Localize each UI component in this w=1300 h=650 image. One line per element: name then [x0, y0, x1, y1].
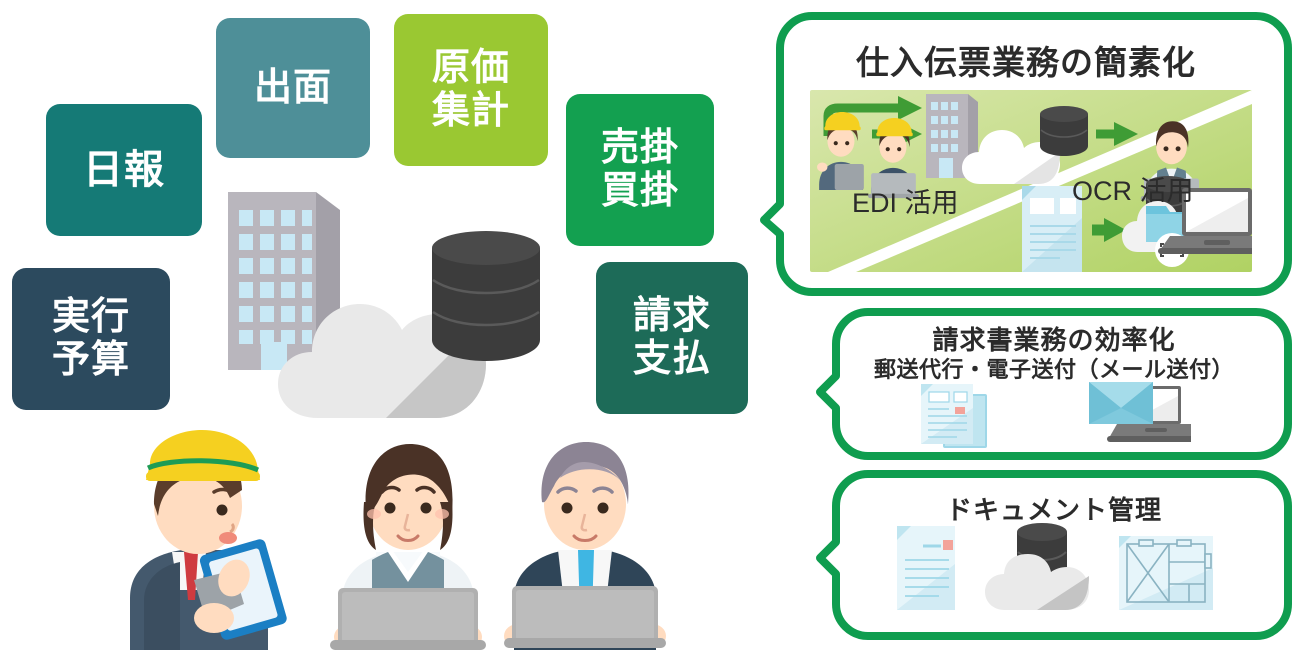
bubble-title: 仕入伝票業務の簡素化 [760, 36, 1292, 84]
person-site-worker [110, 428, 300, 650]
person-office-woman [328, 432, 488, 650]
tile-line: 支払 [633, 338, 711, 381]
invoice-icons [816, 380, 1292, 452]
module-tile-nippo[interactable]: 日報 [46, 104, 202, 236]
edi-zone-label: EDI 活用 [852, 188, 959, 218]
module-tile-demen[interactable]: 出面 [216, 18, 370, 158]
floorplan-icon [1117, 534, 1215, 612]
people-group [110, 418, 670, 650]
edi-ocr-panel: OCR EDI 活用 OCR 活用 [810, 90, 1252, 272]
ocr-zone-label: OCR 活用 [1072, 176, 1194, 206]
tile-line: 実行 [52, 296, 130, 339]
tile-line: 売掛 [601, 127, 679, 170]
document-mgmt-icons [816, 520, 1292, 612]
tile-line: 予算 [52, 339, 130, 382]
person-manager [500, 430, 670, 650]
cloud-database-icon [985, 520, 1093, 612]
module-tile-jikko[interactable]: 実行 予算 [12, 268, 170, 410]
database-icon [428, 228, 548, 366]
document-icon [893, 524, 961, 612]
module-tile-genka[interactable]: 原価 集計 [394, 14, 548, 166]
tile-line: 出面 [254, 67, 332, 110]
bubble-purchase-slip[interactable]: 仕入伝票業務の簡素化 [760, 12, 1292, 296]
infographic-canvas: 日報 出面 原価 集計 売掛 買掛 実行 予算 請求 支払 [0, 0, 1300, 650]
document-envelope-icon [917, 382, 1003, 452]
tile-line: 原価 [432, 47, 510, 90]
mail-laptop-icon [1087, 380, 1191, 452]
tile-line: 集計 [432, 90, 510, 133]
bubble-document-mgmt[interactable]: ドキュメント管理 [816, 470, 1292, 640]
tile-line: 買掛 [601, 170, 679, 213]
tile-line: 請求 [633, 295, 711, 338]
bubble-invoice[interactable]: 請求書業務の効率化 郵送代行・電子送付（メール送付） [816, 308, 1292, 460]
tile-line: 日報 [83, 148, 165, 193]
module-tile-seikyu[interactable]: 請求 支払 [596, 262, 748, 414]
module-tile-urikake[interactable]: 売掛 買掛 [566, 94, 714, 246]
